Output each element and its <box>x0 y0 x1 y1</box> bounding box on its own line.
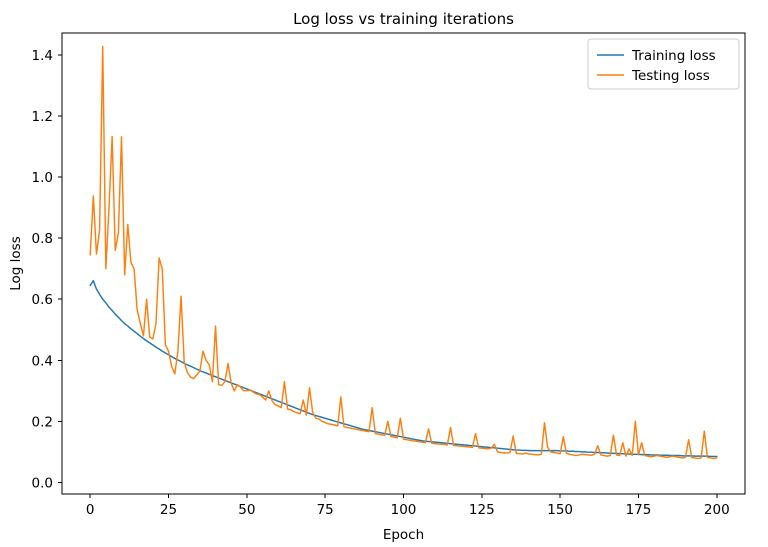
x-tick-label: 75 <box>317 502 334 518</box>
y-tick-label: 0.2 <box>32 414 53 430</box>
y-axis-label: Log loss <box>8 236 24 290</box>
x-tick-label: 150 <box>547 502 573 518</box>
y-tick-label: 1.0 <box>32 170 53 186</box>
y-tick-label: 0.0 <box>32 475 53 491</box>
chart-title: Log loss vs training iterations <box>293 10 514 28</box>
series-line-testing-loss <box>90 46 717 458</box>
y-tick-label: 1.2 <box>32 109 53 125</box>
series-line-training-loss <box>90 281 717 457</box>
chart-plot: 02550751001251501752000.00.20.40.60.81.0… <box>0 0 768 547</box>
plot-frame <box>62 33 745 494</box>
legend-label-testing-loss: Testing loss <box>631 68 710 84</box>
legend-label-training-loss: Training loss <box>631 48 716 64</box>
x-tick-label: 125 <box>469 502 495 518</box>
x-tick-label: 50 <box>238 502 255 518</box>
x-axis-label: Epoch <box>383 527 424 543</box>
y-tick-label: 0.6 <box>32 292 53 308</box>
x-tick-label: 100 <box>391 502 417 518</box>
x-tick-label: 0 <box>86 502 95 518</box>
y-tick-label: 0.4 <box>32 353 53 369</box>
figure-canvas: 02550751001251501752000.00.20.40.60.81.0… <box>0 0 768 547</box>
y-tick-label: 1.4 <box>32 48 53 64</box>
x-tick-label: 175 <box>626 502 652 518</box>
x-tick-label: 200 <box>704 502 730 518</box>
x-tick-label: 25 <box>160 502 177 518</box>
y-tick-label: 0.8 <box>32 231 53 247</box>
